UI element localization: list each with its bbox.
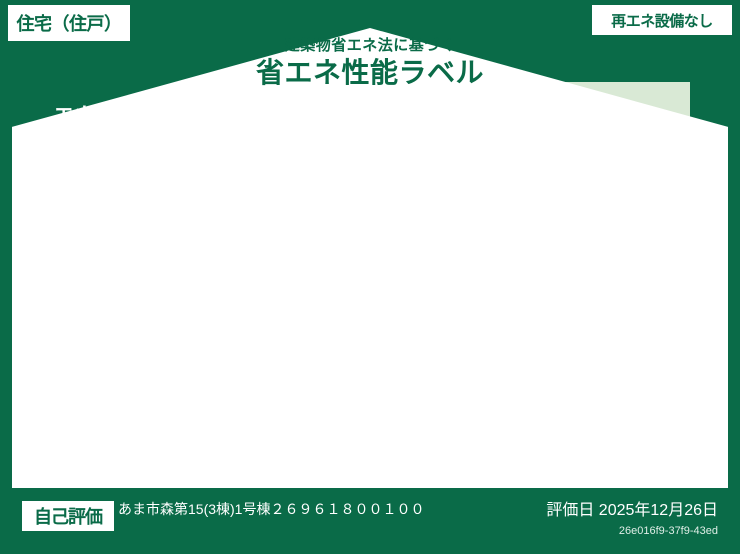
- housing-type-badge: 住宅（住戸）: [8, 5, 130, 41]
- energy-performance-label: 住宅（住戸） 再エネ設備なし 建築物省エネ法に基づく 省エネ性能ラベル エネルギ…: [0, 0, 740, 554]
- property-address: あま市森第15(3棟)1号棟２６９６１８００１００: [118, 500, 518, 519]
- label-footer: 自己評価 あま市森第15(3棟)1号棟２６９６１８００１００ 評価日 2025年…: [0, 488, 740, 554]
- record-id: 26e016f9-37f9-43ed: [546, 523, 718, 539]
- label-title-block: 建築物省エネ法に基づく 省エネ性能ラベル: [0, 36, 740, 90]
- renewable-equipment-badge: 再エネ設備なし: [592, 5, 732, 35]
- page-title: 省エネ性能ラベル: [0, 56, 740, 90]
- evaluation-date-block: 評価日 2025年12月26日 26e016f9-37f9-43ed: [546, 501, 718, 539]
- evaluation-type-badge: 自己評価: [22, 501, 114, 531]
- evaluation-date: 評価日 2025年12月26日: [546, 501, 718, 521]
